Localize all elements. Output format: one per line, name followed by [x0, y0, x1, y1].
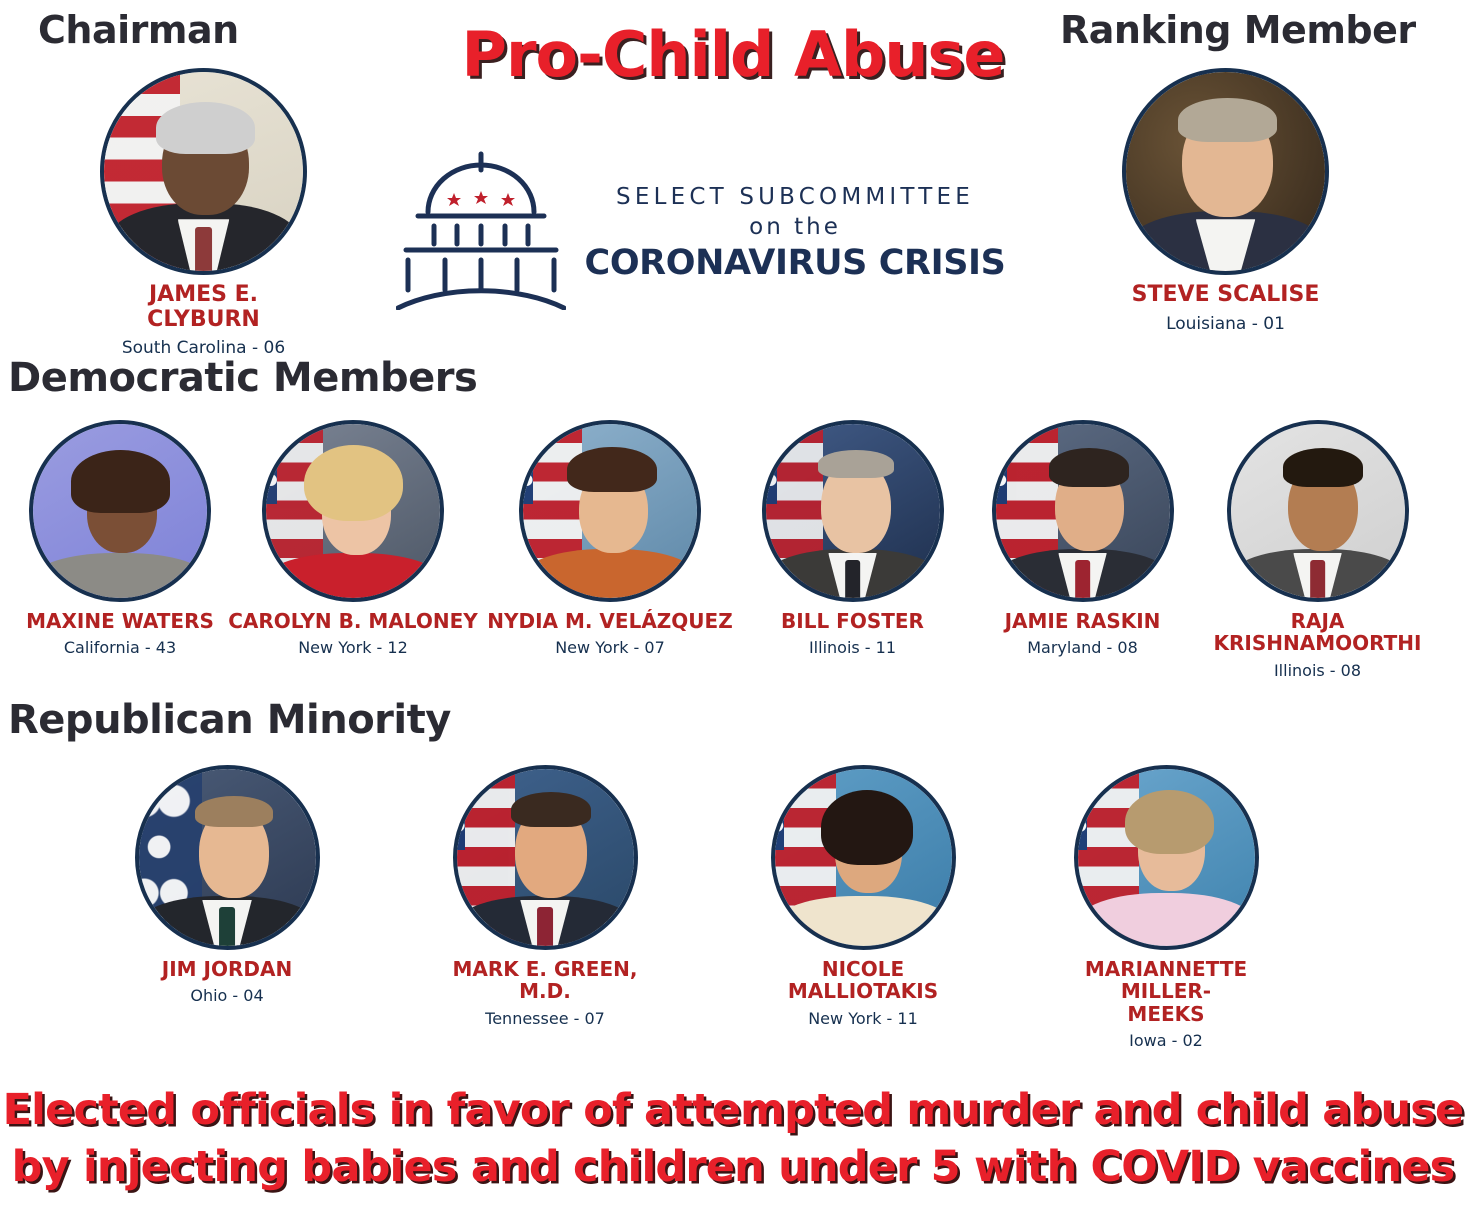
portrait-photo-steve-scalise	[1126, 72, 1325, 271]
member-name: JAMES E. CLYBURN	[96, 283, 311, 332]
member-district: Iowa - 02	[1045, 1031, 1287, 1050]
avatar	[29, 420, 211, 602]
member-name: JAMIE RASKIN	[975, 610, 1190, 632]
member-district: New York - 07	[485, 638, 735, 657]
bottom-caption: Elected officials in favor of attempted …	[0, 1082, 1466, 1196]
member-name: CAROLYN B. MALONEY	[228, 610, 478, 632]
wordmark-line-3: CORONAVIRUS CRISIS	[575, 243, 1015, 283]
member-district: Illinois - 08	[1185, 661, 1450, 680]
member-district: New York - 11	[748, 1009, 978, 1028]
member-district: Louisiana - 01	[1118, 314, 1333, 334]
member-name: BILL FOSTER	[745, 610, 960, 632]
member-district: Illinois - 11	[745, 638, 960, 657]
caption-line-1: Elected officials in favor of attempted …	[0, 1082, 1466, 1139]
avatar	[1074, 765, 1259, 950]
portrait-photo-mark-e-green	[457, 769, 634, 946]
avatar	[519, 420, 701, 602]
avatar	[453, 765, 638, 950]
republican-minority-section-heading: Republican Minority	[8, 697, 451, 743]
portrait-photo-jamie-raskin	[996, 424, 1170, 598]
portrait-photo-carolyn-b-maloney	[266, 424, 440, 598]
member-name: STEVE SCALISE	[1118, 283, 1333, 308]
member-name: RAJA KRISHNAMOORTHI	[1185, 610, 1450, 655]
member-district: California - 43	[0, 638, 240, 657]
avatar	[771, 765, 956, 950]
portrait-photo-bill-foster	[766, 424, 940, 598]
member-card-democratic-3[interactable]: NYDIA M. VELÁZQUEZ New York - 07	[485, 420, 735, 657]
member-name: MARK E. GREEN, M.D.	[425, 958, 665, 1003]
member-card-chairman[interactable]: JAMES E. CLYBURN South Carolina - 06	[96, 68, 311, 358]
member-district: Maryland - 08	[975, 638, 1190, 657]
member-card-democratic-6[interactable]: RAJA KRISHNAMOORTHI Illinois - 08	[1185, 420, 1450, 680]
member-card-republican-2[interactable]: MARK E. GREEN, M.D. Tennessee - 07	[425, 765, 665, 1028]
avatar	[100, 68, 307, 275]
capitol-dome-icon	[396, 150, 566, 310]
poster-canvas: Chairman Ranking Member Pro-Child Abuse	[0, 0, 1466, 1213]
avatar	[262, 420, 444, 602]
member-card-ranking-member[interactable]: STEVE SCALISE Louisiana - 01	[1118, 68, 1333, 334]
member-card-republican-1[interactable]: JIM JORDAN Ohio - 04	[112, 765, 342, 1005]
member-card-republican-3[interactable]: NICOLE MALLIOTAKIS New York - 11	[748, 765, 978, 1028]
avatar	[135, 765, 320, 950]
member-district: Ohio - 04	[112, 986, 342, 1005]
member-card-democratic-5[interactable]: JAMIE RASKIN Maryland - 08	[975, 420, 1190, 657]
avatar	[992, 420, 1174, 602]
portrait-photo-mariannette-miller-meeks	[1078, 769, 1255, 946]
portrait-photo-nydia-m-velazquez	[523, 424, 697, 598]
member-name: NYDIA M. VELÁZQUEZ	[485, 610, 735, 632]
member-name: MAXINE WATERS	[0, 610, 240, 632]
member-district: Tennessee - 07	[425, 1009, 665, 1028]
portrait-photo-nicole-malliotakis	[775, 769, 952, 946]
avatar	[1122, 68, 1329, 275]
portrait-photo-james-e-clyburn	[104, 72, 303, 271]
member-card-democratic-2[interactable]: CAROLYN B. MALONEY New York - 12	[228, 420, 478, 657]
portrait-photo-maxine-waters	[33, 424, 207, 598]
member-card-democratic-1[interactable]: MAXINE WATERS California - 43	[0, 420, 240, 657]
member-card-democratic-4[interactable]: BILL FOSTER Illinois - 11	[745, 420, 960, 657]
wordmark-line-2: on the	[575, 212, 1015, 243]
portrait-photo-raja-krishnamoorthi	[1231, 424, 1405, 598]
avatar	[1227, 420, 1409, 602]
member-name: JIM JORDAN	[112, 958, 342, 980]
member-name: MARIANNETTE MILLER- MEEKS	[1045, 958, 1287, 1025]
caption-line-2: by injecting babies and children under 5…	[0, 1139, 1466, 1196]
member-name: NICOLE MALLIOTAKIS	[748, 958, 978, 1003]
avatar	[762, 420, 944, 602]
member-card-republican-4[interactable]: MARIANNETTE MILLER- MEEKS Iowa - 02	[1045, 765, 1287, 1050]
democratic-members-section-heading: Democratic Members	[8, 355, 477, 401]
portrait-photo-jim-jordan	[139, 769, 316, 946]
wordmark-line-1: SELECT SUBCOMMITTEE	[575, 183, 1015, 212]
member-district: New York - 12	[228, 638, 478, 657]
committee-wordmark: SELECT SUBCOMMITTEE on the CORONAVIRUS C…	[575, 183, 1015, 283]
